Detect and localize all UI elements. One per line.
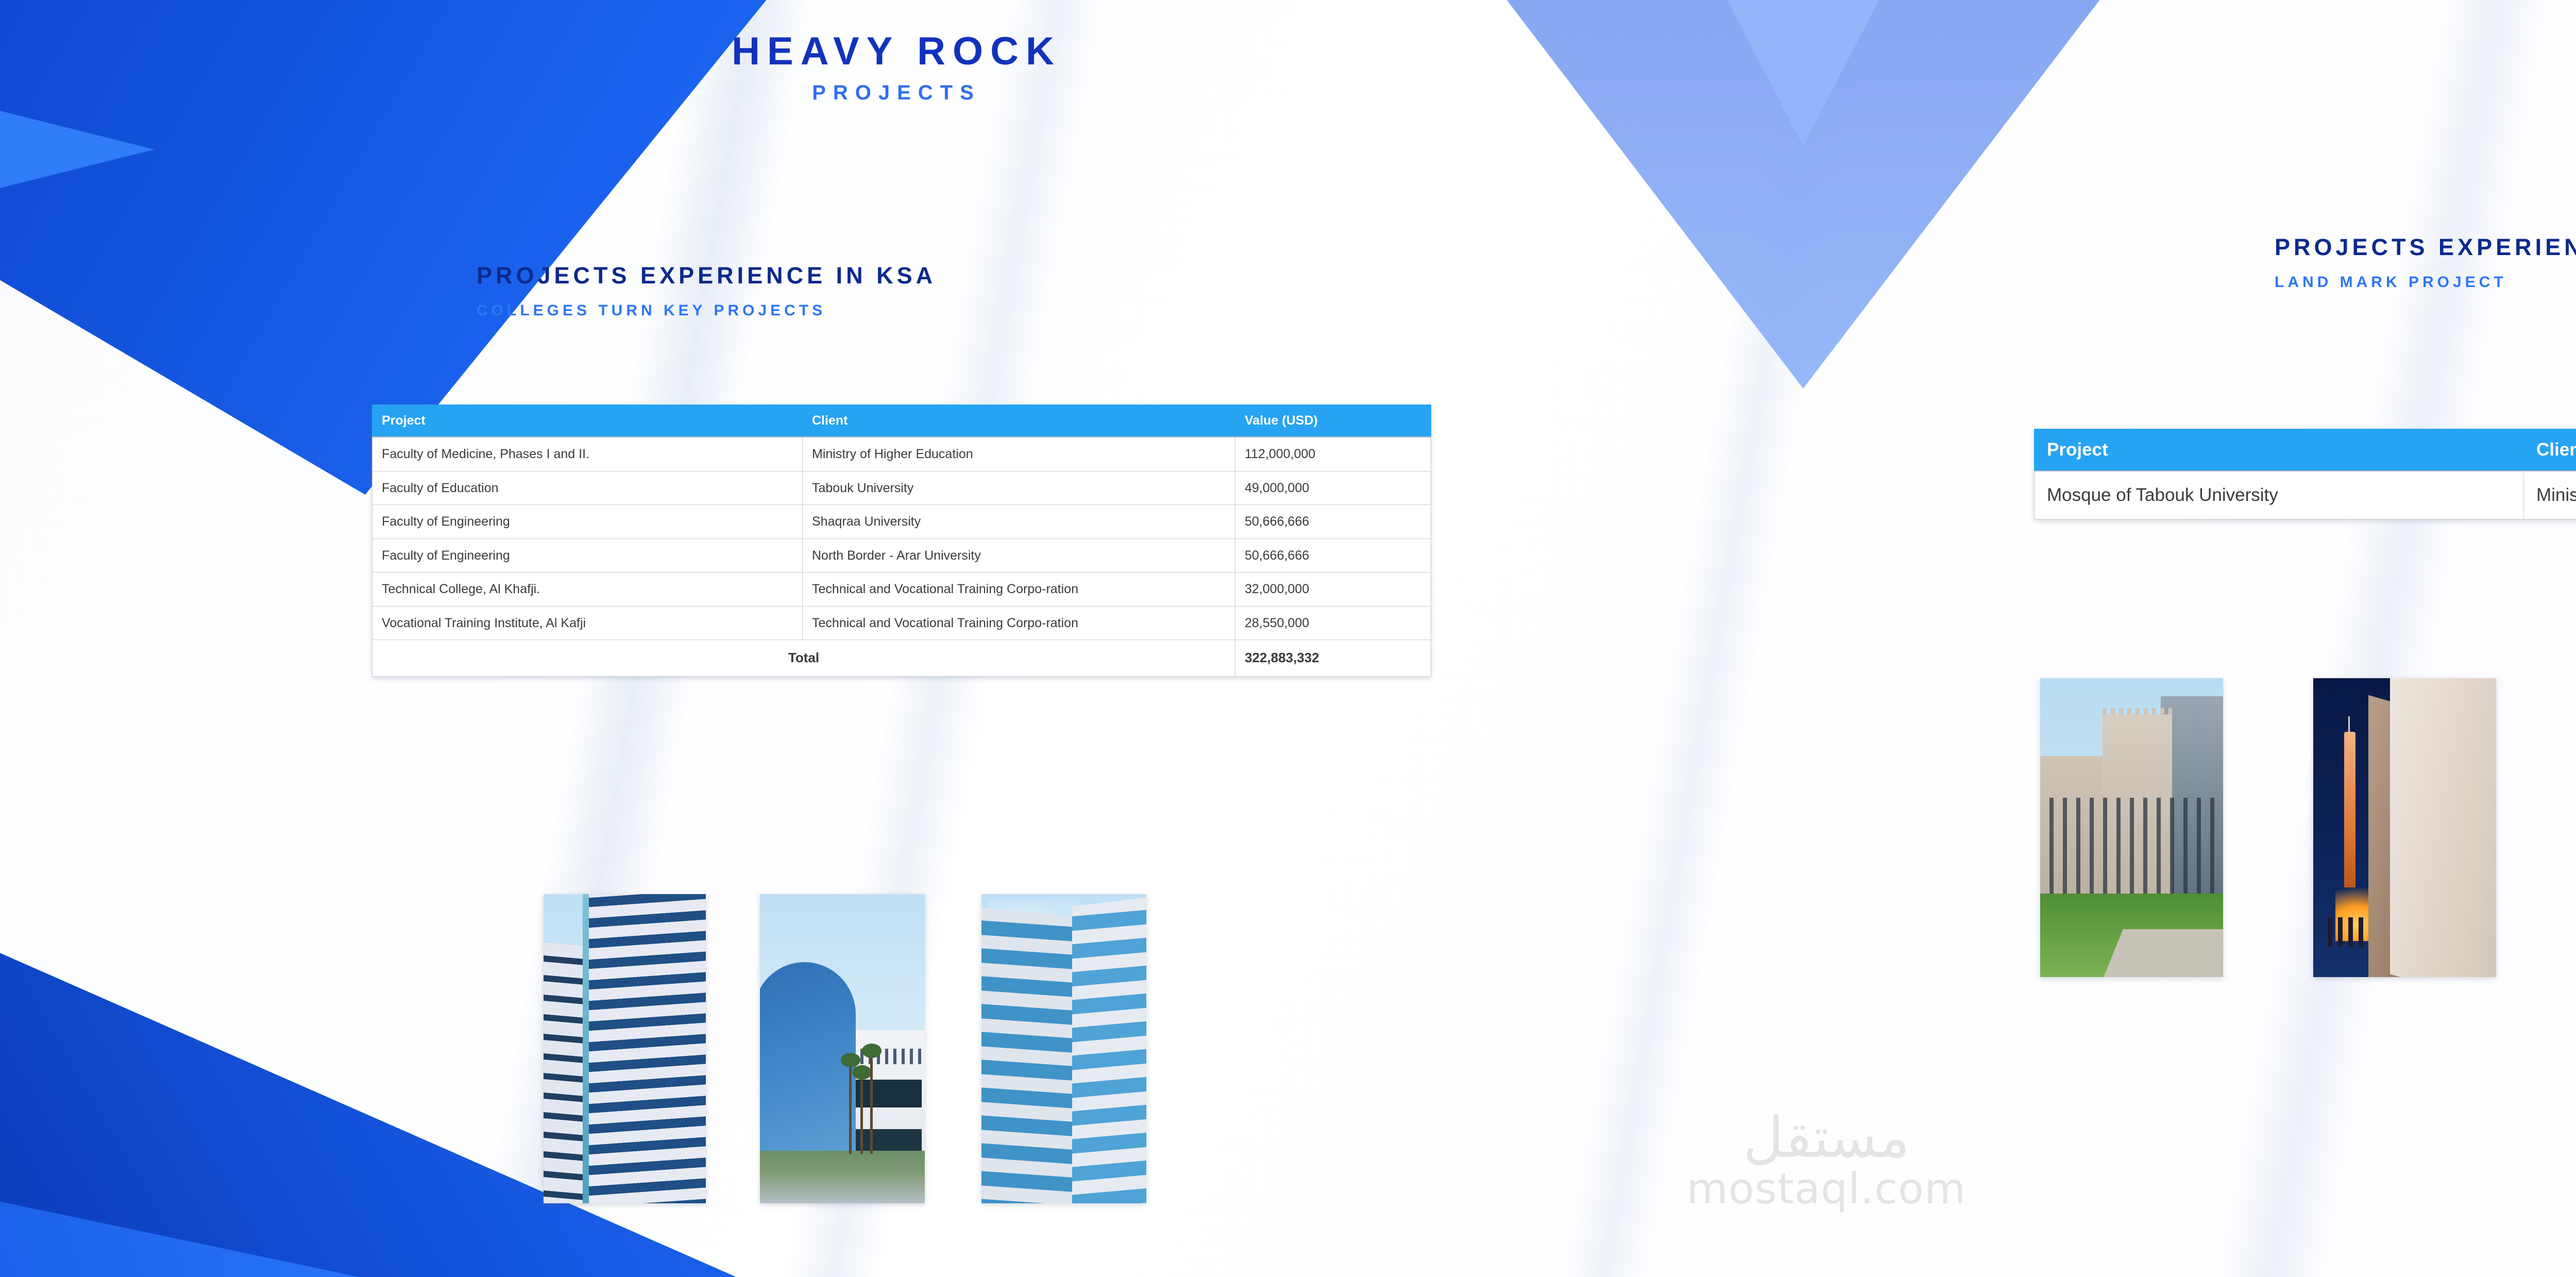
cell-client: Shaqraa University [803,505,1235,539]
cell-client: Technical and Vocational Training Corpo-… [803,606,1235,640]
photo-palm-tree [870,1052,873,1154]
right-section-subtitle: LAND MARK PROJECT [2275,274,2576,291]
photo-main-wall [2390,678,2496,977]
photo-minaret [2344,732,2355,887]
photo-dark-band [856,1080,922,1107]
colleges-projects-table-wrapper: Project Client Value (USD) Faculty of Me… [372,405,1431,677]
table-total-row: Total 322,883,332 [372,640,1431,677]
table-row: Mosque of Tabouk University Ministry of … [2035,471,2576,519]
project-photo-mosque-at-night [2313,678,2496,977]
cell-project: Mosque of Tabouk University [2035,471,2524,519]
cell-project: Vocational Training Institute, Al Kafji [372,606,803,640]
photo-secondary-tower [544,941,589,1203]
column-header-project: Project [372,405,803,438]
brand-tagline: PROJECTS [608,81,1185,105]
cell-project: Technical College, Al Khafji. [372,573,803,607]
right-section-heading: PROJECTS EXPERIENCE IN KSA LAND MARK PRO… [2275,234,2576,291]
right-section-title: PROJECTS EXPERIENCE IN KSA [2275,234,2576,260]
cell-value: 32,000,000 [1235,573,1431,607]
cell-value: 49,000,000 [1235,471,1431,505]
cell-project: Faculty of Engineering [372,539,803,573]
cell-client: North Border - Arar University [803,539,1235,573]
colleges-projects-table: Project Client Value (USD) Faculty of Me… [372,405,1431,677]
photo-ground [760,1151,925,1203]
column-header-client: Client [803,405,1235,438]
table-header-row: Project Client Value (USD) [2035,429,2576,472]
brand-name: HEAVY ROCK [608,31,1185,72]
cell-project: Faculty of Education [372,471,803,505]
table-row: Faculty of Engineering North Border - Ar… [372,539,1431,573]
watermark-arabic: مستقل [1646,1111,2007,1166]
project-photo-stone-campus [2040,678,2223,977]
chevron-top-left-small-icon [0,77,155,222]
photo-walkway [2104,929,2223,977]
cell-value: 112,000,000 [1235,437,1431,471]
chevron-bottom-left-small-icon [0,1076,433,1277]
cell-value: 50,666,666 [1235,539,1431,573]
project-photo-curved-glass-building [760,894,925,1203]
table-row: Faculty of Medicine, Phases I and II. Mi… [372,437,1431,471]
table-row: Vocational Training Institute, Al Kafji … [372,606,1431,640]
table-row: Faculty of Education Tabouk University 4… [372,471,1431,505]
cell-value: 28,550,000 [1235,606,1431,640]
cell-client: Ministry of Higher Education [2524,471,2576,519]
photo-main-tower [589,894,706,1203]
table-header-row: Project Client Value (USD) [372,405,1431,438]
column-header-project: Project [2035,429,2524,472]
left-section-subtitle: COLLEGES TURN KEY PROJECTS [477,302,936,320]
table-row: Technical College, Al Khafji. Technical … [372,573,1431,607]
total-label: Total [372,640,1235,677]
cell-project: Faculty of Medicine, Phases I and II. [372,437,803,471]
project-photo-blue-banded-tower [981,894,1146,1203]
left-section-title: PROJECTS EXPERIENCE IN KSA [477,263,936,289]
watermark-latin: mostaql.com [1646,1168,2007,1211]
slide-canvas: HEAVY ROCK PROJECTS PROJECTS EXPERIENCE … [0,0,2576,1277]
cell-client: Ministry of Higher Education [803,437,1235,471]
cell-value: 50,666,666 [1235,505,1431,539]
center-triangle-inner-icon [1726,0,1880,146]
photo-palm-tree [849,1061,852,1154]
cell-client: Tabouk University [803,471,1235,505]
column-header-client: Client [2524,429,2576,472]
cell-project: Faculty of Engineering [372,505,803,539]
landmark-project-table-wrapper: Project Client Value (USD) Mosque of Tab… [2034,429,2576,519]
center-triangle-icon [1504,0,2102,389]
photo-windows [2040,798,2223,899]
cell-client: Technical and Vocational Training Corpo-… [803,573,1235,607]
total-value: 322,883,332 [1235,640,1431,677]
brand-logo: HEAVY ROCK PROJECTS [608,31,1185,105]
photo-tower-edge [583,894,589,1203]
landmark-project-table: Project Client Value (USD) Mosque of Tab… [2034,429,2576,519]
photo-facade-right [1072,894,1146,1203]
left-section-heading: PROJECTS EXPERIENCE IN KSA COLLEGES TURN… [477,263,936,320]
table-row: Faculty of Engineering Shaqraa Universit… [372,505,1431,539]
project-photo-office-tower [544,894,706,1203]
column-header-value: Value (USD) [1235,405,1431,438]
watermark: مستقل mostaql.com [1646,1111,2007,1211]
photo-palm-tree [860,1073,863,1154]
photo-parapet [2103,708,2172,715]
